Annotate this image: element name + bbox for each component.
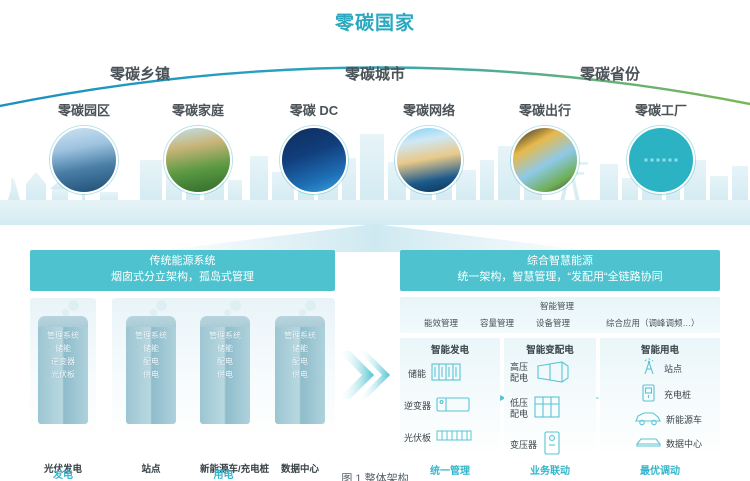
row-label: 低压 配电	[510, 398, 528, 420]
row-label: 高压 配电	[510, 362, 528, 384]
stack-layer: 配电	[143, 356, 159, 367]
column-smart-generation: 智能发电 储能 逆变器	[400, 338, 500, 458]
smart-header-subtitle: 统一架构，智慧管理，“发配用“全链路协同	[404, 270, 716, 286]
circle-item-network[interactable]: 零碳网络	[371, 100, 487, 194]
circle-label: 零碳家庭	[140, 100, 256, 119]
stack-body: 管理系统 储能 逆变器 光伏板	[38, 327, 88, 424]
legacy-panel-header: 传统能源系统 烟囱式分立架构，孤岛式管理	[30, 250, 335, 291]
page-title: 零碳国家	[0, 8, 750, 35]
stack-layer: 供电	[217, 369, 233, 380]
data-center-photo-icon	[280, 126, 348, 194]
solar-panel-icon	[435, 428, 473, 449]
circle-item-home[interactable]: 零碳家庭	[140, 100, 256, 194]
tier1-item-town: 零碳乡镇	[70, 63, 210, 84]
architecture-diagram: 传统能源系统 烟囱式分立架构，孤岛式管理 管理系统 储能 逆变器 光伏板 光	[0, 250, 750, 481]
charging-pile-icon	[638, 382, 660, 409]
stack-layer: 管理系统	[209, 330, 241, 341]
stack-layer: 配电	[217, 356, 233, 367]
battery-rack-icon	[430, 360, 462, 389]
tag-smart-management: 智能管理	[540, 300, 574, 312]
row-data-center[interactable]: 数据中心	[634, 434, 702, 455]
smart-header-title: 综合智慧能源	[404, 254, 716, 270]
antenna-tower-icon	[638, 356, 660, 383]
row-label: 光伏板	[404, 433, 431, 444]
circle-label: 零碳工厂	[603, 100, 719, 119]
circle-item-mobility[interactable]: 零碳出行	[487, 100, 603, 194]
tag-efficiency-management[interactable]: 能效管理	[424, 317, 458, 329]
smart-energy-panel: 综合智慧能源 统一架构，智慧管理，“发配用“全链路协同 智能管理 能效管理 容量…	[400, 250, 720, 458]
stack-layer: 管理系统	[284, 330, 316, 341]
placeholder-loading-icon	[627, 126, 695, 194]
column-smart-consumption: 智能用电 站点	[600, 338, 720, 458]
circle-label: 零碳 DC	[256, 100, 372, 119]
row-hv-distribution[interactable]: 高压 配电	[510, 358, 570, 389]
row-label: 站点	[664, 364, 682, 375]
stack-layer: 储能	[292, 343, 308, 354]
row-pv-panel[interactable]: 光伏板	[404, 428, 473, 449]
poster-root: 零碳国家 零碳乡镇 零碳城市 零碳省份	[0, 0, 750, 481]
row-label: 数据中心	[666, 439, 702, 450]
row-inverter[interactable]: 逆变器	[404, 394, 471, 419]
stack-layer: 逆变器	[51, 356, 75, 367]
stack-ev: 管理系统 储能 配电 供电 新能源车/充电桩	[200, 316, 250, 424]
stack-layer: 管理系统	[47, 330, 79, 341]
circle-label: 零碳网络	[371, 100, 487, 119]
column-title: 智能发电	[400, 338, 500, 356]
function-columns: 智能发电 储能 逆变器	[400, 338, 720, 458]
stack-layer: 供电	[143, 369, 159, 380]
circle-item-park[interactable]: 零碳园区	[26, 100, 142, 194]
stack-layer: 管理系统	[135, 330, 167, 341]
row-label: 逆变器	[404, 401, 431, 412]
lv-cabinet-icon	[532, 394, 562, 425]
tag-integrated-application[interactable]: 综合应用（调峰调频…）	[606, 317, 700, 329]
stack-layer: 储能	[217, 343, 233, 354]
row-electric-car[interactable]: 新能源车	[634, 408, 702, 433]
stack-layer: 供电	[292, 369, 308, 380]
stack-layer: 配电	[292, 356, 308, 367]
row-label: 新能源车	[666, 415, 702, 426]
server-icon	[634, 434, 662, 455]
legacy-panel-body: 管理系统 储能 逆变器 光伏板 光伏发电 管理系统 储能 配电 供电	[30, 298, 335, 463]
stack-layer: 储能	[143, 343, 159, 354]
stack-body: 管理系统 储能 配电 供电	[275, 327, 325, 424]
column-smart-distribution: 智能变配电 高压 配电 低压 配电	[504, 338, 596, 458]
transformer-icon	[541, 430, 563, 461]
tier1-item-city: 零碳城市	[305, 63, 445, 84]
column-title: 智能用电	[600, 338, 720, 356]
tag-capacity-management[interactable]: 容量管理	[480, 317, 514, 329]
row-label: 变压器	[510, 440, 537, 451]
column-title: 智能变配电	[504, 338, 596, 356]
circle-item-dc[interactable]: 零碳 DC	[256, 100, 372, 194]
tag-device-management[interactable]: 设备管理	[536, 317, 570, 329]
row-storage[interactable]: 储能	[408, 360, 462, 389]
stack-body: 管理系统 储能 配电 供电	[126, 327, 176, 424]
stack-site: 管理系统 储能 配电 供电 站点	[126, 316, 176, 424]
management-tag-bar: 智能管理 能效管理 容量管理 设备管理 综合应用（调峰调频…）	[400, 297, 720, 333]
hv-switchgear-icon	[532, 358, 570, 389]
transition-arrow-icon	[336, 345, 400, 405]
inverter-icon	[435, 394, 471, 419]
electric-car-icon	[634, 408, 662, 433]
circle-label: 零碳出行	[487, 100, 603, 119]
circle-item-factory[interactable]: 零碳工厂	[603, 100, 719, 194]
legacy-header-title: 传统能源系统	[34, 254, 331, 270]
stack-datacenter: 管理系统 储能 配电 供电 数据中心	[275, 316, 325, 424]
green-residential-photo-icon	[164, 126, 232, 194]
row-lv-distribution[interactable]: 低压 配电	[510, 394, 562, 425]
solar-wind-photo-icon	[395, 126, 463, 194]
legacy-panel: 传统能源系统 烟囱式分立架构，孤岛式管理 管理系统 储能 逆变器 光伏板 光	[30, 250, 335, 463]
city-skyline-photo-icon	[50, 126, 118, 194]
stack-pv: 管理系统 储能 逆变器 光伏板 光伏发电	[38, 316, 88, 424]
figure-caption: 图 1 整体架构	[0, 470, 750, 481]
row-label: 充电桩	[664, 390, 691, 401]
row-label: 储能	[408, 369, 426, 380]
smart-panel-header: 综合智慧能源 统一架构，智慧管理，“发配用“全链路协同	[400, 250, 720, 291]
stack-layer: 光伏板	[51, 369, 75, 380]
up-chevron-divider	[0, 222, 750, 252]
row-charging-pile[interactable]: 充电桩	[638, 382, 691, 409]
ev-driving-photo-icon	[511, 126, 579, 194]
stack-layer: 储能	[55, 343, 71, 354]
row-site[interactable]: 站点	[638, 356, 682, 383]
row-transformer[interactable]: 变压器	[510, 430, 563, 461]
circle-row: 零碳园区 零碳家庭 零碳 DC 零碳网络 零碳出行 零碳工厂	[0, 100, 750, 205]
tier1-labels: 零碳乡镇 零碳城市 零碳省份	[0, 63, 750, 87]
tier1-item-province: 零碳省份	[540, 63, 680, 84]
stack-body: 管理系统 储能 配电 供电	[200, 327, 250, 424]
loading-dots	[645, 159, 678, 162]
circle-label: 零碳园区	[26, 100, 142, 119]
legacy-header-subtitle: 烟囱式分立架构，孤岛式管理	[34, 270, 331, 286]
